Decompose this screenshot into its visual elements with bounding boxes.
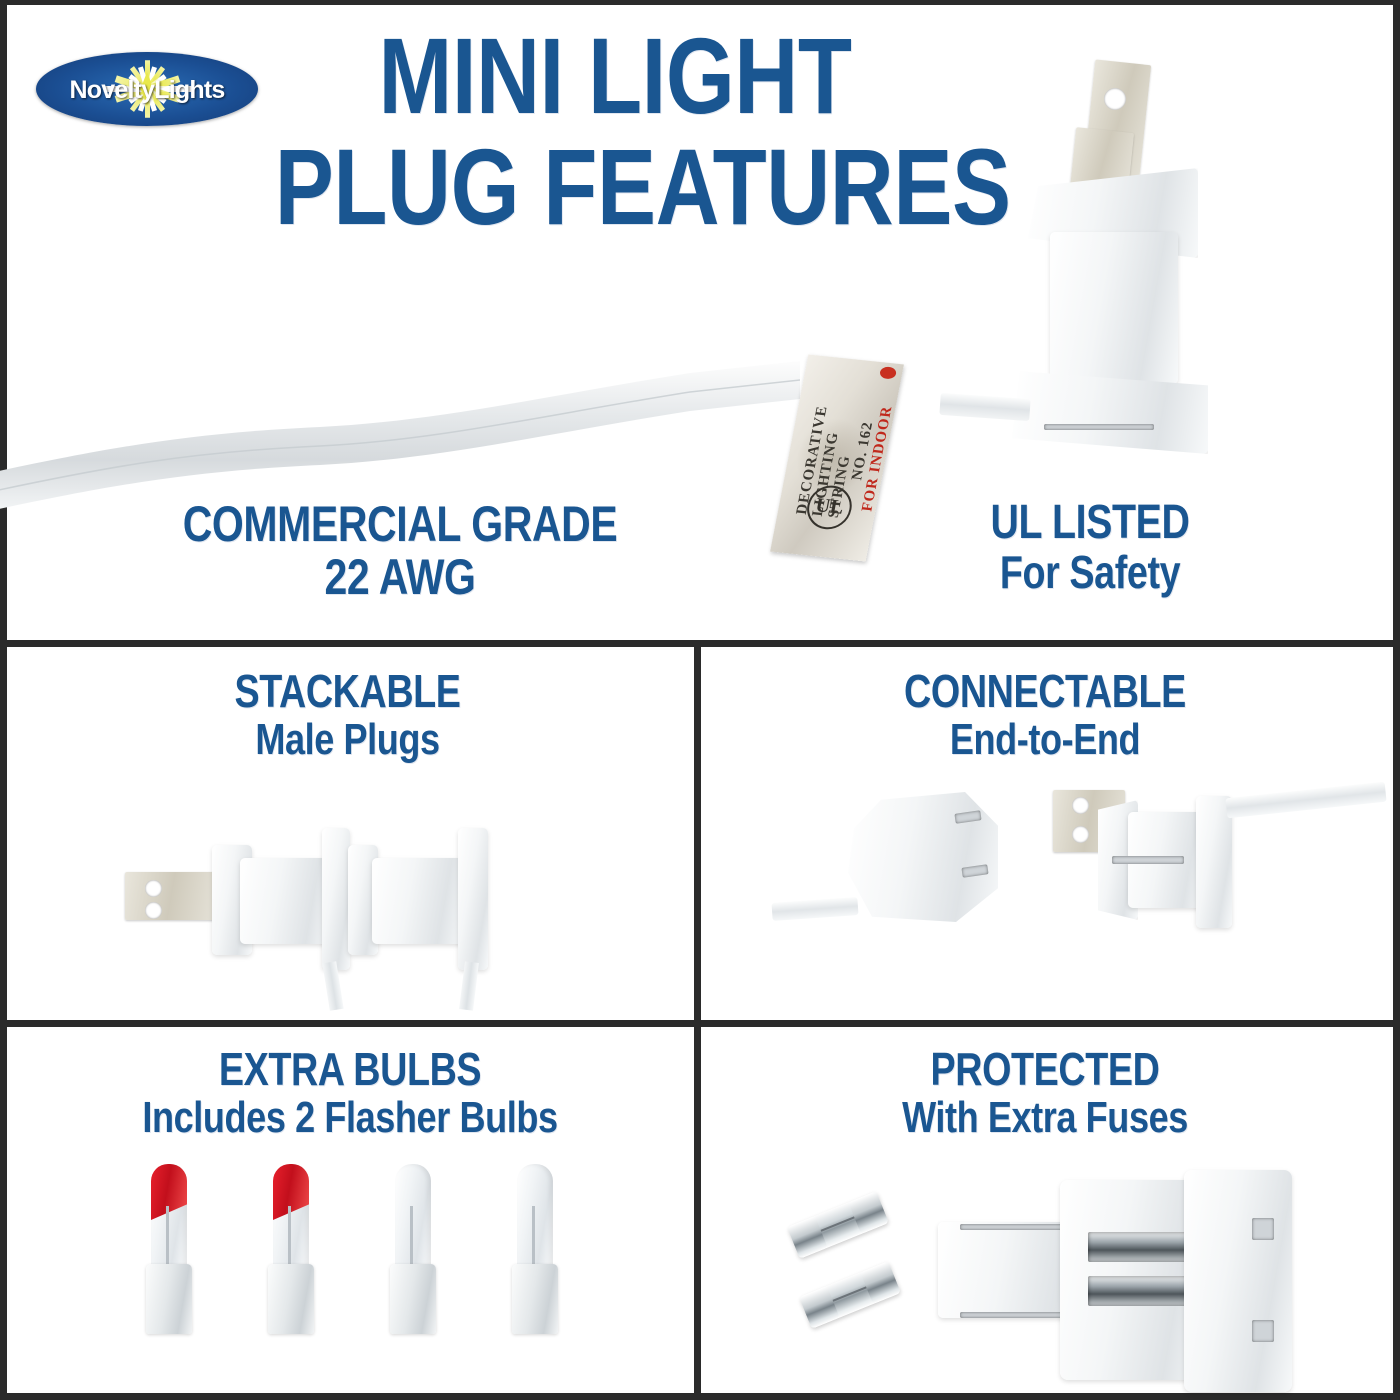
connectable-subheading: End-to-End — [811, 716, 1278, 764]
title-line-1: MINI LIGHT — [275, 22, 956, 130]
page-title: MINI LIGHT PLUG FEATURES — [200, 22, 1030, 243]
plug-body-core — [1050, 232, 1178, 384]
socket-cord — [771, 897, 858, 921]
commercial-heading: COMMERCIAL GRADE — [121, 498, 679, 550]
title-line-2: PLUG FEATURES — [275, 130, 956, 243]
bulb-glass — [395, 1164, 431, 1268]
caption-extra-bulbs: EXTRA BULBS Includes 2 Flasher Bulbs — [40, 1046, 660, 1141]
fuse-plug-rear-slot-1 — [1252, 1218, 1274, 1240]
fuse-compartment-slot-2 — [1088, 1276, 1192, 1306]
ul-subheading: For Safety — [930, 548, 1250, 598]
plug-2-barrel — [372, 858, 464, 944]
fuse-plug-rear — [1184, 1170, 1292, 1392]
divider-vertical-bottom — [694, 1020, 701, 1400]
fuse-cap-left — [799, 1286, 840, 1329]
clear-bulb-icon — [506, 1164, 564, 1334]
fuse-cap-right — [848, 1191, 889, 1234]
flasher-bulb-icon — [140, 1164, 198, 1334]
stacked-prong-hole-1 — [145, 880, 162, 897]
frame-border-top — [0, 0, 1400, 5]
male-plug-groove — [1112, 856, 1184, 864]
bulbs-subheading: Includes 2 Flasher Bulbs — [96, 1094, 604, 1142]
caption-ul-listed: UL LISTED For Safety — [895, 498, 1285, 598]
protected-subheading: With Extra Fuses — [811, 1094, 1278, 1142]
bulbs-heading: EXTRA BULBS — [96, 1046, 604, 1094]
tag-red-mark — [879, 366, 897, 379]
flasher-bulb-icon — [262, 1164, 320, 1334]
plug-1-flange-right — [322, 828, 350, 970]
bulb-base — [146, 1264, 192, 1334]
bulb-base — [390, 1264, 436, 1334]
plug-body-base — [1012, 366, 1208, 454]
divider-vertical-middle — [694, 640, 701, 1020]
commercial-subheading: 22 AWG — [121, 550, 679, 604]
fuse-plug-rear-slot-2 — [1252, 1320, 1274, 1342]
bulb-base — [268, 1264, 314, 1334]
clear-bulb-icon — [384, 1164, 442, 1334]
stackable-subheading: Male Plugs — [108, 716, 588, 764]
male-prong-hole-2 — [1072, 826, 1089, 843]
frame-border-right — [1393, 0, 1400, 1400]
plug-base-groove — [1044, 424, 1154, 430]
fuse-cap-right — [860, 1261, 901, 1304]
wire-cord-icon — [0, 355, 800, 515]
caption-commercial-grade: COMMERCIAL GRADE 22 AWG — [60, 498, 740, 604]
caption-protected: PROTECTED With Extra Fuses — [760, 1046, 1330, 1141]
mini-light-plug-features-infographic: NoveltyLights MINI LIGHT PLUG FEATURES D… — [0, 0, 1400, 1400]
glass-fuse-icon — [799, 1261, 901, 1328]
bulb-base — [512, 1264, 558, 1334]
fuse-cap-left — [787, 1216, 828, 1259]
protected-heading: PROTECTED — [811, 1046, 1278, 1094]
bulb-glass — [517, 1164, 553, 1268]
ul-heading: UL LISTED — [930, 498, 1250, 548]
glass-fuse-icon — [787, 1191, 889, 1258]
caption-stackable: STACKABLE Male Plugs — [55, 668, 640, 763]
stackable-heading: STACKABLE — [108, 668, 588, 716]
caption-connectable: CONNECTABLE End-to-End — [760, 668, 1330, 763]
male-plug-cord — [1225, 782, 1386, 819]
prong-hole-upper — [1104, 88, 1126, 110]
stacked-plug-prong — [125, 872, 217, 920]
fuse-compartment-slot-1 — [1088, 1232, 1192, 1262]
connectable-heading: CONNECTABLE — [811, 668, 1278, 716]
bulb-filament — [410, 1206, 413, 1264]
bulb-filament — [166, 1206, 169, 1264]
male-prong-hole-1 — [1072, 797, 1089, 814]
bulb-filament — [532, 1206, 535, 1264]
bulb-filament — [288, 1206, 291, 1264]
plug-2-flange-right — [458, 828, 488, 970]
plug-1-barrel — [240, 858, 332, 944]
frame-border-left — [0, 0, 7, 1400]
fuse-wire — [833, 1286, 867, 1301]
fuse-wire — [821, 1216, 855, 1231]
stacked-prong-hole-2 — [145, 902, 162, 919]
